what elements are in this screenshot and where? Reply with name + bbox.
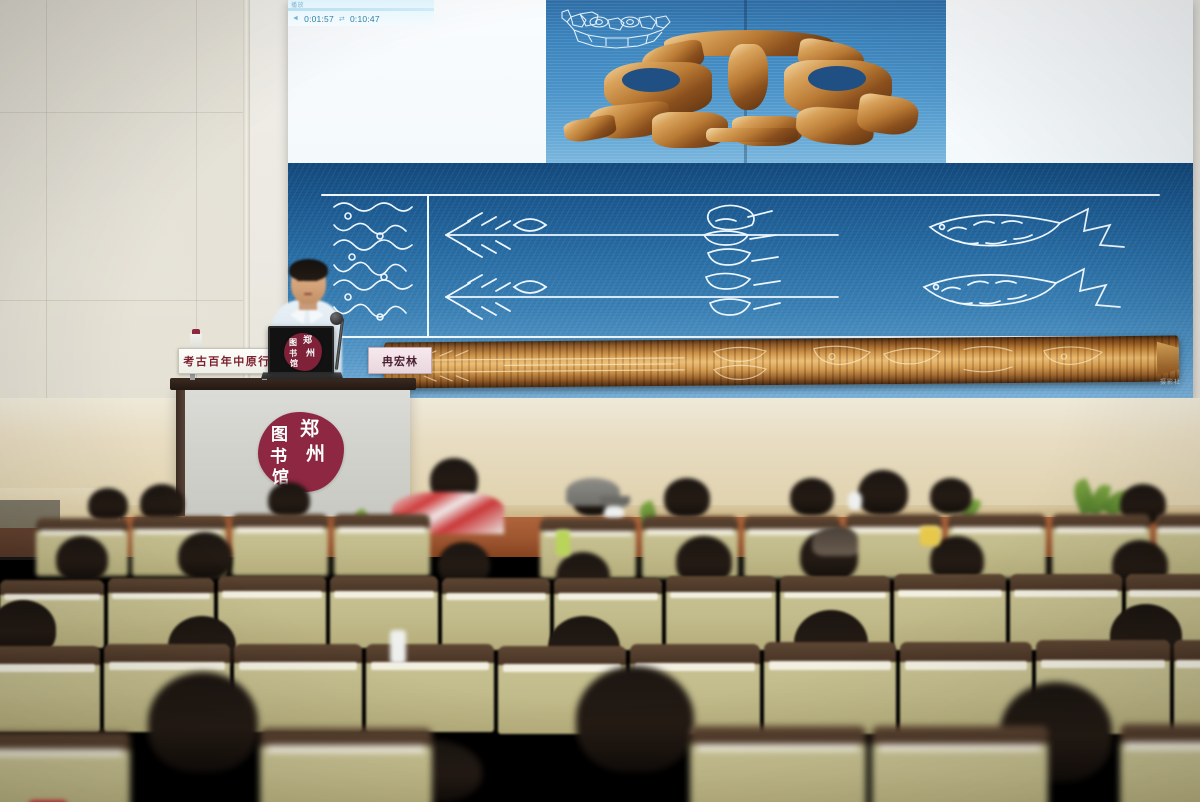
seat[interactable] — [894, 574, 1006, 650]
loop-icon[interactable]: ⇄ — [339, 15, 345, 23]
wall-seam — [0, 112, 248, 113]
speaker-name-text: 冉宏林 — [382, 353, 418, 369]
audience-head — [790, 478, 834, 516]
speaker-nameplate: 冉宏林 — [368, 347, 432, 374]
seat[interactable] — [0, 646, 100, 732]
gold-mask-artifact — [546, 0, 946, 163]
water-bottle — [556, 530, 570, 556]
total-time: 0:10:47 — [350, 14, 380, 24]
previous-icon[interactable]: ◄ — [292, 15, 299, 22]
seal-char-shu: 书 — [289, 350, 297, 358]
audience-head — [148, 672, 258, 772]
elapsed-time: 0:01:57 — [304, 14, 334, 24]
audience-head — [88, 488, 128, 522]
seat[interactable] — [330, 576, 438, 648]
seal-char-zheng: 郑 — [303, 336, 312, 345]
seat[interactable] — [232, 514, 328, 576]
seal-char-guan: 馆 — [290, 360, 298, 368]
gold-mask-image — [546, 0, 946, 163]
seat[interactable] — [260, 728, 432, 802]
yellow-bag — [920, 526, 940, 546]
audience-head — [56, 536, 108, 582]
carafe-cap — [192, 329, 200, 334]
seat[interactable] — [764, 642, 896, 734]
audience-head — [858, 470, 908, 516]
seat[interactable] — [0, 732, 130, 802]
speaker-hair — [289, 259, 328, 281]
microphone-head — [330, 312, 343, 325]
seat[interactable] — [690, 726, 866, 802]
podium-top-surface — [170, 378, 416, 390]
staff-rubbing-drawing-icon — [318, 191, 1163, 341]
staff-engraving-icon — [384, 336, 1179, 389]
laptop-screen[interactable]: 图 郑 书 州 馆 — [268, 326, 334, 374]
seat[interactable] — [366, 644, 494, 732]
seat[interactable] — [1010, 574, 1122, 650]
audience-head — [576, 666, 694, 772]
audience-head — [664, 478, 710, 518]
media-player-bar[interactable]: 播放 ◄ 0:01:57 ⇄ 0:10:47 — [288, 0, 434, 26]
seal-char-zhou: 州 — [306, 349, 315, 358]
seat[interactable] — [666, 576, 776, 650]
seat[interactable] — [442, 578, 550, 650]
audience-head — [268, 482, 310, 518]
seat[interactable] — [846, 514, 942, 578]
seat[interactable] — [1174, 640, 1200, 734]
face-mask — [848, 492, 862, 510]
event-banner-plate: 考古百年中原行 — [178, 348, 276, 374]
corner-watermark: 摄影杜 — [1160, 377, 1181, 386]
projection-screen: 摄影杜 播放 ◄ 0:01:57 ⇄ 0:10:47 — [288, 0, 1193, 400]
speaker-eye-left — [297, 279, 303, 281]
seat[interactable] — [334, 514, 430, 576]
seat[interactable] — [872, 726, 1048, 802]
audience-head — [930, 478, 972, 514]
gold-staff-artifact — [384, 336, 1179, 389]
speaker-eye-right — [312, 279, 318, 281]
speaker-mouth — [304, 293, 312, 295]
seal-char-zheng: 郑 — [300, 420, 319, 439]
banner-stand-left — [190, 374, 195, 380]
event-banner-text: 考古百年中原行 — [183, 353, 271, 369]
audience-area — [0, 440, 1200, 802]
audience-hair-bun — [812, 526, 858, 556]
audience-head — [178, 532, 232, 580]
water-bottle — [390, 630, 406, 664]
seat[interactable] — [1120, 724, 1200, 802]
lecture-hall-photo: 摄影杜 播放 ◄ 0:01:57 ⇄ 0:10:47 — [0, 0, 1200, 802]
seal-char-tu: 图 — [289, 339, 297, 347]
wall-seam — [0, 300, 248, 301]
laptop-library-seal-logo: 图 郑 书 州 馆 — [284, 333, 322, 371]
